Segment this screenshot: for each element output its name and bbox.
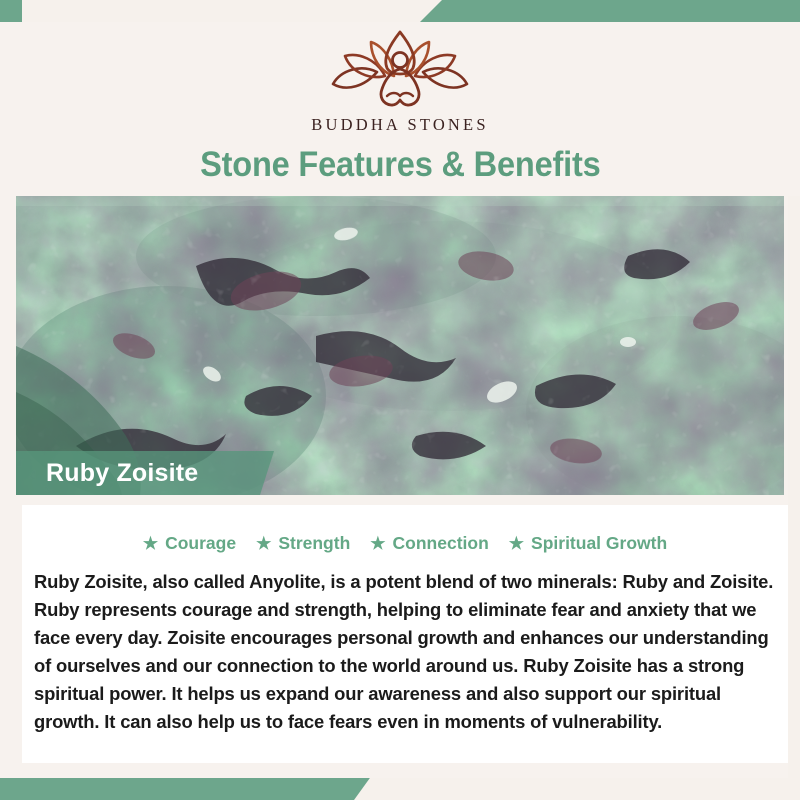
feature-tag-connection: ★ Connection — [370, 533, 489, 554]
brand-name: BUDDHA STONES — [311, 115, 488, 135]
header: BUDDHA STONES Stone Features & Benefits — [0, 22, 800, 196]
feature-tag-strength: ★ Strength — [256, 533, 350, 554]
feature-tag-spiritual-growth: ★ Spiritual Growth — [509, 533, 667, 554]
stone-photo: Ruby Zoisite — [16, 196, 784, 495]
feature-tags: ★ Courage ★ Strength ★ Connection ★ Spir… — [22, 505, 788, 554]
feature-label: Spiritual Growth — [531, 533, 667, 554]
stone-name-band: Ruby Zoisite — [16, 451, 274, 495]
feature-label: Strength — [278, 533, 350, 554]
lotus-meditation-icon — [325, 26, 475, 114]
star-icon: ★ — [509, 535, 524, 552]
feature-label: Connection — [393, 533, 489, 554]
star-icon: ★ — [370, 535, 385, 552]
stone-description: Ruby Zoisite, also called Anyolite, is a… — [34, 568, 776, 736]
infographic-page: BUDDHA STONES Stone Features & Benefits — [0, 0, 800, 800]
star-icon: ★ — [256, 535, 271, 552]
page-title: Stone Features & Benefits — [200, 145, 601, 185]
feature-tag-courage: ★ Courage — [143, 533, 236, 554]
feature-label: Courage — [165, 533, 236, 554]
corner-decoration-top-right — [420, 0, 800, 22]
star-icon: ★ — [143, 535, 158, 552]
content-panel: ★ Courage ★ Strength ★ Connection ★ Spir… — [22, 505, 788, 763]
stone-name: Ruby Zoisite — [46, 459, 198, 488]
